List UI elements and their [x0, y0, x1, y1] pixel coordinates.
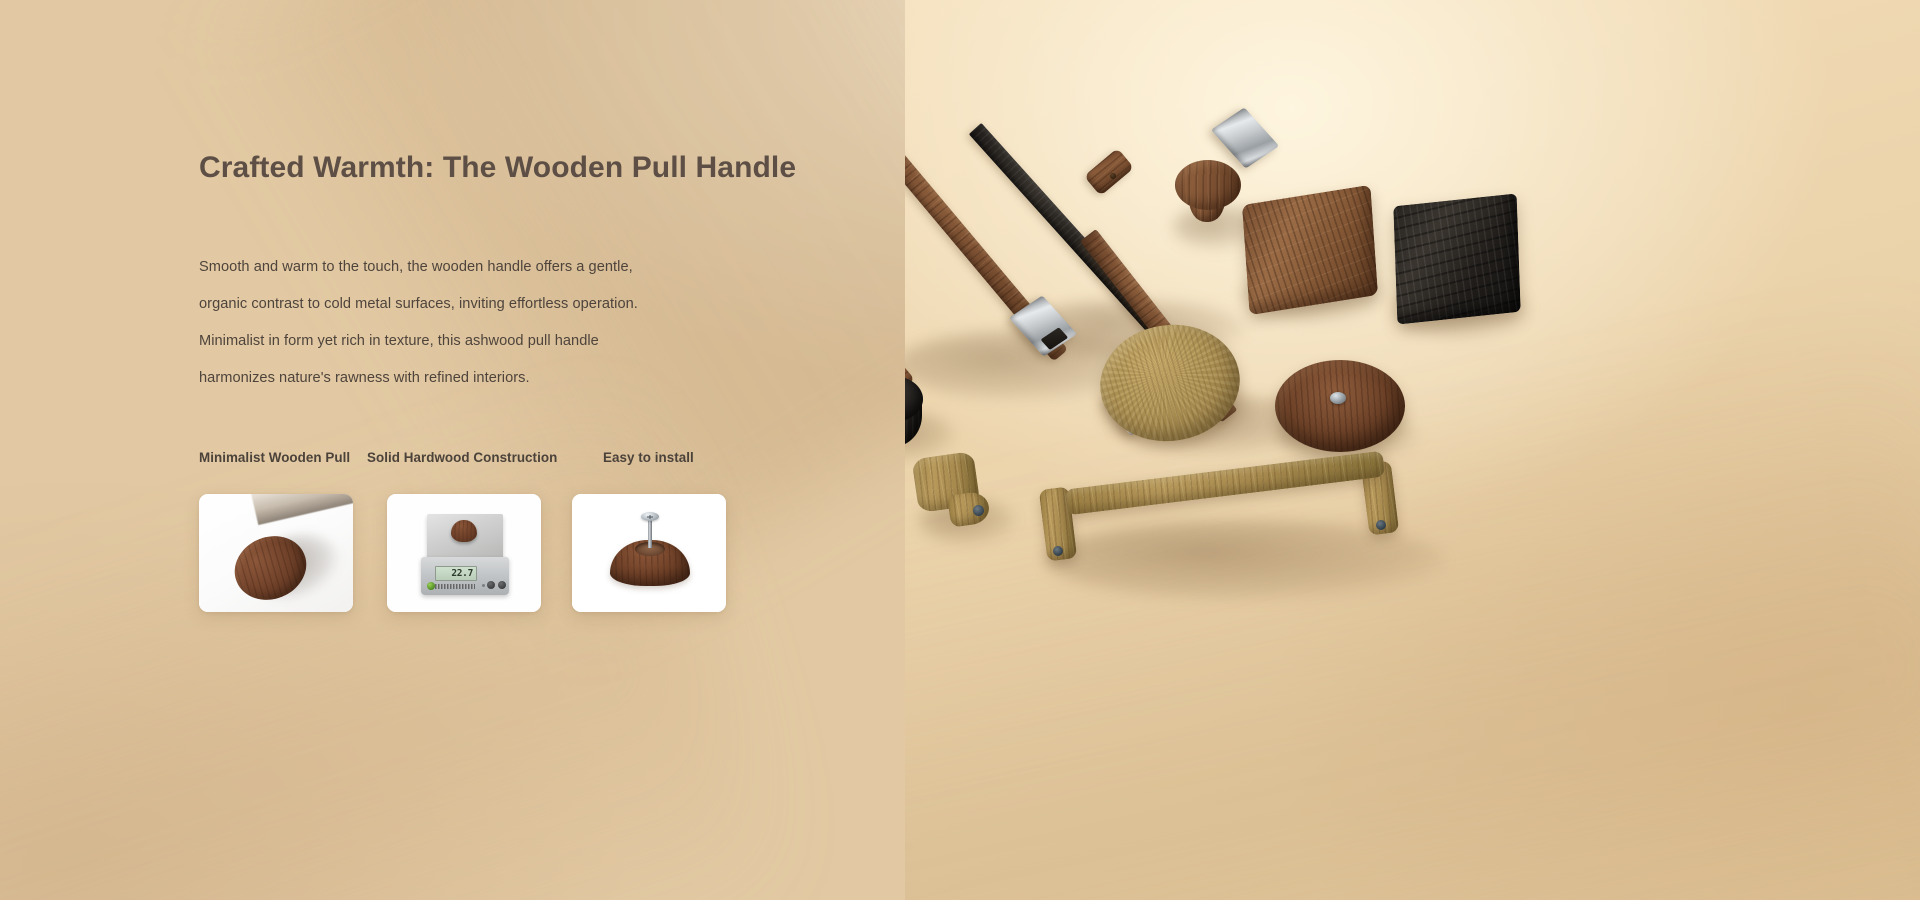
hero-product-photo	[905, 0, 1920, 900]
screw-icon-left	[1053, 546, 1063, 556]
page-title: Crafted Warmth: The Wooden Pull Handle	[199, 150, 819, 187]
scale-power-led	[427, 582, 435, 590]
product-hero-page: Crafted Warmth: The Wooden Pull Handle S…	[0, 0, 1920, 900]
scale-button-unit[interactable]	[498, 581, 506, 589]
product-dome-walnut	[1275, 360, 1405, 452]
screw-icon-right	[1376, 520, 1386, 530]
feature-label-minimalist-wooden-pull: Minimalist Wooden Pull	[199, 450, 350, 465]
knob-top	[1175, 160, 1241, 210]
background-lower-shadow	[0, 394, 778, 900]
plate-face	[1393, 193, 1520, 324]
product-knob-oak-small	[915, 455, 995, 539]
knob-neck	[947, 490, 991, 527]
feature-thumbnail-dome-knob-screw	[572, 494, 726, 612]
product-knob-walnut-round	[1175, 160, 1245, 230]
copy-column: Crafted Warmth: The Wooden Pull Handle S…	[199, 150, 819, 397]
product-knob-black	[905, 375, 929, 451]
product-plate-black	[1395, 200, 1519, 318]
feature-label-easy-to-install: Easy to install	[603, 450, 694, 465]
handle-rail	[1065, 451, 1386, 516]
scale-button-tare[interactable]	[487, 581, 495, 589]
description-line-3: Minimalist in form yet rich in texture, …	[199, 323, 819, 360]
description-line-1: Smooth and warm to the touch, the wooden…	[199, 249, 819, 286]
feature-thumbnail-scale: 22.7	[387, 494, 541, 612]
feature-label-solid-hardwood-construction: Solid Hardwood Construction	[367, 450, 557, 465]
screw-cross-slot-icon	[647, 515, 653, 519]
feature-card-minimalist-wooden-pull[interactable]	[199, 494, 353, 612]
scale-reading: 22.7	[451, 568, 473, 579]
product-disc-oak	[1100, 325, 1240, 441]
feature-card-easy-to-install[interactable]	[572, 494, 726, 612]
product-plate-walnut	[1245, 195, 1375, 305]
dome-face	[1275, 360, 1405, 452]
disc-face	[1093, 316, 1248, 450]
screw-icon	[1330, 392, 1346, 404]
plate-face	[1242, 185, 1378, 315]
scale-brand-text	[435, 584, 475, 589]
bar-foot-bottom	[1009, 295, 1077, 356]
scale-indicator-dot	[482, 584, 485, 587]
scale-wooden-knob	[451, 520, 477, 542]
screw-icon	[973, 505, 984, 516]
description-line-4: harmonizes nature's rawness with refined…	[199, 360, 819, 397]
description-paragraph: Smooth and warm to the touch, the wooden…	[199, 249, 819, 397]
scale-lcd-display: 22.7	[435, 566, 477, 581]
feature-card-solid-hardwood-construction[interactable]: 22.7	[387, 494, 541, 612]
feature-thumbnail-knob-on-white	[199, 494, 353, 612]
description-line-2: organic contrast to cold metal surfaces,…	[199, 286, 819, 323]
foot-inner-cavity	[1040, 327, 1068, 350]
product-handle-oak-big	[1035, 460, 1475, 620]
screw-shaft-icon	[648, 518, 652, 548]
